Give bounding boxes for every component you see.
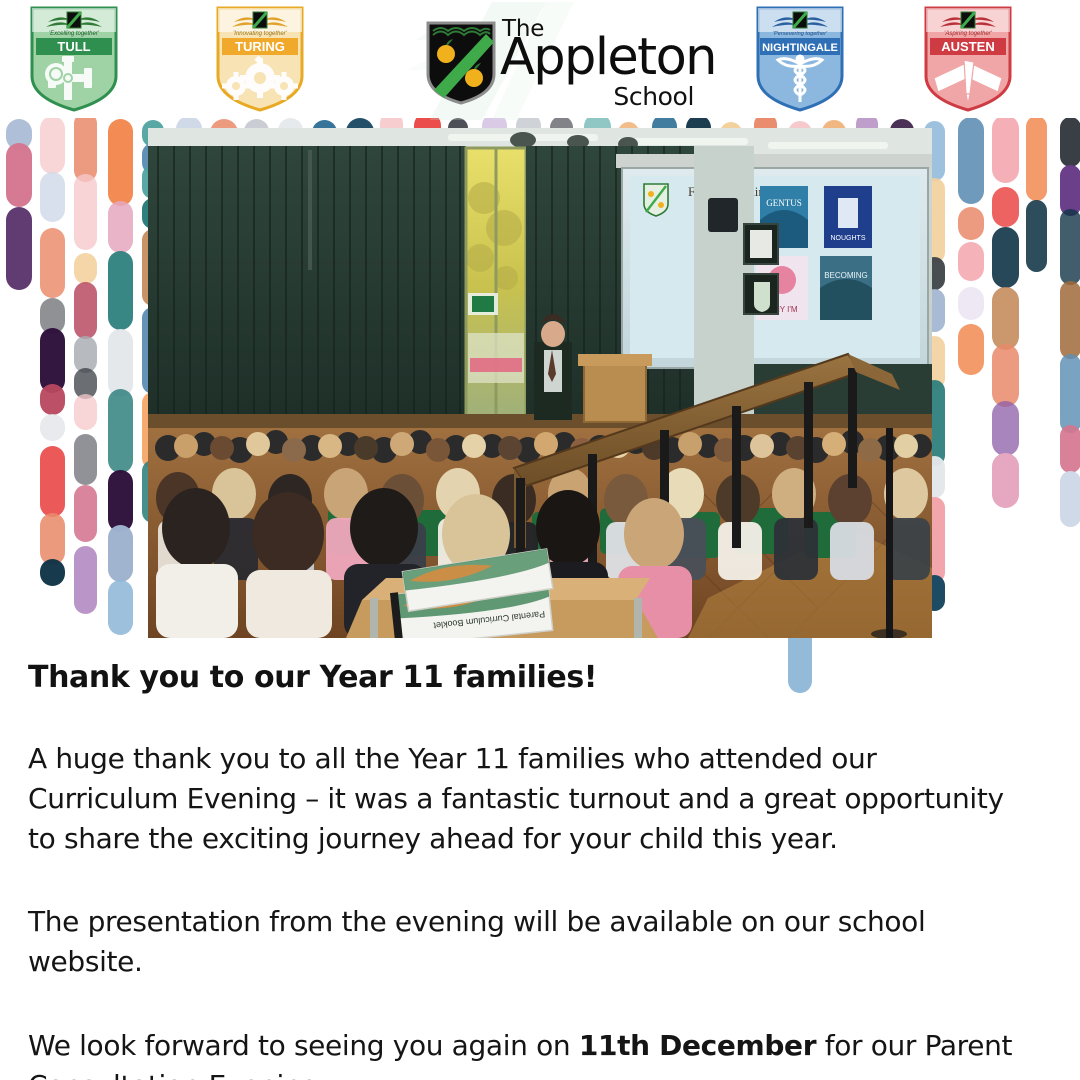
confetti-bar <box>74 253 97 284</box>
confetti-bar <box>108 389 133 473</box>
confetti-bar <box>992 227 1019 288</box>
confetti-bar <box>108 470 133 532</box>
shield-thumbnail-icon <box>644 184 668 216</box>
confetti-bar <box>108 525 133 582</box>
confetti-bar <box>40 384 65 415</box>
confetti-bar <box>74 112 97 182</box>
confetti-bar <box>74 394 97 430</box>
paragraph-3-date: 11th December <box>579 1029 816 1062</box>
house-crest-tull: 'Excelling together' TULL <box>18 2 130 114</box>
paragraph-1: A huge thank you to all the Year 11 fami… <box>28 739 1034 858</box>
newsletter-body: Thank you to our Year 11 families! A hug… <box>0 648 1080 1080</box>
confetti-bar <box>74 485 97 543</box>
confetti-bar <box>108 119 133 206</box>
confetti-bar <box>992 187 1019 227</box>
house-name-nightingale: NIGHTINGALE <box>762 42 838 54</box>
house-name-austen: AUSTEN <box>941 39 994 54</box>
confetti-bar <box>1060 471 1080 527</box>
confetti-bar <box>108 580 133 635</box>
svg-text:NOUGHTS: NOUGHTS <box>831 235 866 242</box>
confetti-bar <box>108 201 133 253</box>
paragraph-3: We look forward to seeing you again on 1… <box>28 1026 1034 1080</box>
confetti-bar <box>958 207 984 239</box>
confetti-bar <box>992 344 1019 407</box>
confetti-bar <box>40 414 65 441</box>
confetti-bar <box>40 446 65 517</box>
house-motto-nightingale: 'Persevering together' <box>773 31 828 37</box>
house-crest-austen: 'Aspiring together' AUSTEN <box>912 2 1024 114</box>
page-title: Thank you to our Year 11 families! <box>28 660 1052 695</box>
logo-line-school: School <box>613 82 694 111</box>
confetti-bar <box>108 251 133 330</box>
logo-line-appleton: Appleton <box>500 32 716 83</box>
confetti-bar <box>1060 209 1080 284</box>
newsletter-page: 'Excelling together' TULL <box>0 0 1080 1080</box>
confetti-bar <box>1060 281 1080 359</box>
confetti-bar <box>40 559 65 586</box>
confetti-bar <box>992 401 1019 456</box>
house-motto-turing: 'Innovating together' <box>233 31 288 37</box>
confetti-bar <box>992 453 1019 508</box>
svg-text:BECOMING: BECOMING <box>824 271 868 280</box>
house-name-tull: TULL <box>57 39 90 54</box>
confetti-bar <box>108 329 133 397</box>
confetti-bar <box>40 513 65 565</box>
confetti-bar <box>74 282 97 340</box>
confetti-bar <box>958 324 984 375</box>
house-motto-austen: 'Aspiring together' <box>944 31 993 37</box>
confetti-bar <box>40 172 65 222</box>
confetti-bar <box>958 242 984 282</box>
event-photo: Fiction Reading List THE HATE U GIVE GEN… <box>148 128 932 638</box>
confetti-bar <box>1026 116 1047 201</box>
svg-text:GENTUS: GENTUS <box>766 198 802 208</box>
confetti-bar <box>40 228 65 298</box>
house-motto-tull: 'Excelling together' <box>49 31 100 37</box>
paragraph-3-before: We look forward to seeing you again on <box>28 1029 579 1062</box>
appleton-shield-icon <box>424 20 498 106</box>
house-crest-nightingale: 'Persevering together' NIGHTINGALE <box>744 2 856 114</box>
confetti-bar <box>1060 354 1080 433</box>
confetti-bar <box>74 546 97 614</box>
confetti-bar <box>992 287 1019 349</box>
confetti-bar <box>74 434 97 485</box>
confetti-bar <box>1060 165 1080 216</box>
confetti-bar <box>40 116 65 173</box>
house-crest-turing: 'Innovating together' TURING <box>204 2 316 114</box>
header-banner: 'Excelling together' TULL <box>0 0 1080 118</box>
school-logo: The Appleton School <box>418 6 688 114</box>
confetti-bar <box>6 143 32 207</box>
house-name-turing: TURING <box>235 39 285 54</box>
confetti-bar <box>992 115 1019 183</box>
paragraph-2: The presentation from the evening will b… <box>28 902 1034 982</box>
confetti-bar <box>1026 200 1047 271</box>
confetti-bar <box>74 174 97 250</box>
confetti-bar <box>6 207 32 291</box>
confetti-bar <box>958 117 984 204</box>
confetti-bar <box>958 287 984 319</box>
confetti-bar <box>1060 117 1080 167</box>
confetti-bar <box>1060 425 1080 474</box>
